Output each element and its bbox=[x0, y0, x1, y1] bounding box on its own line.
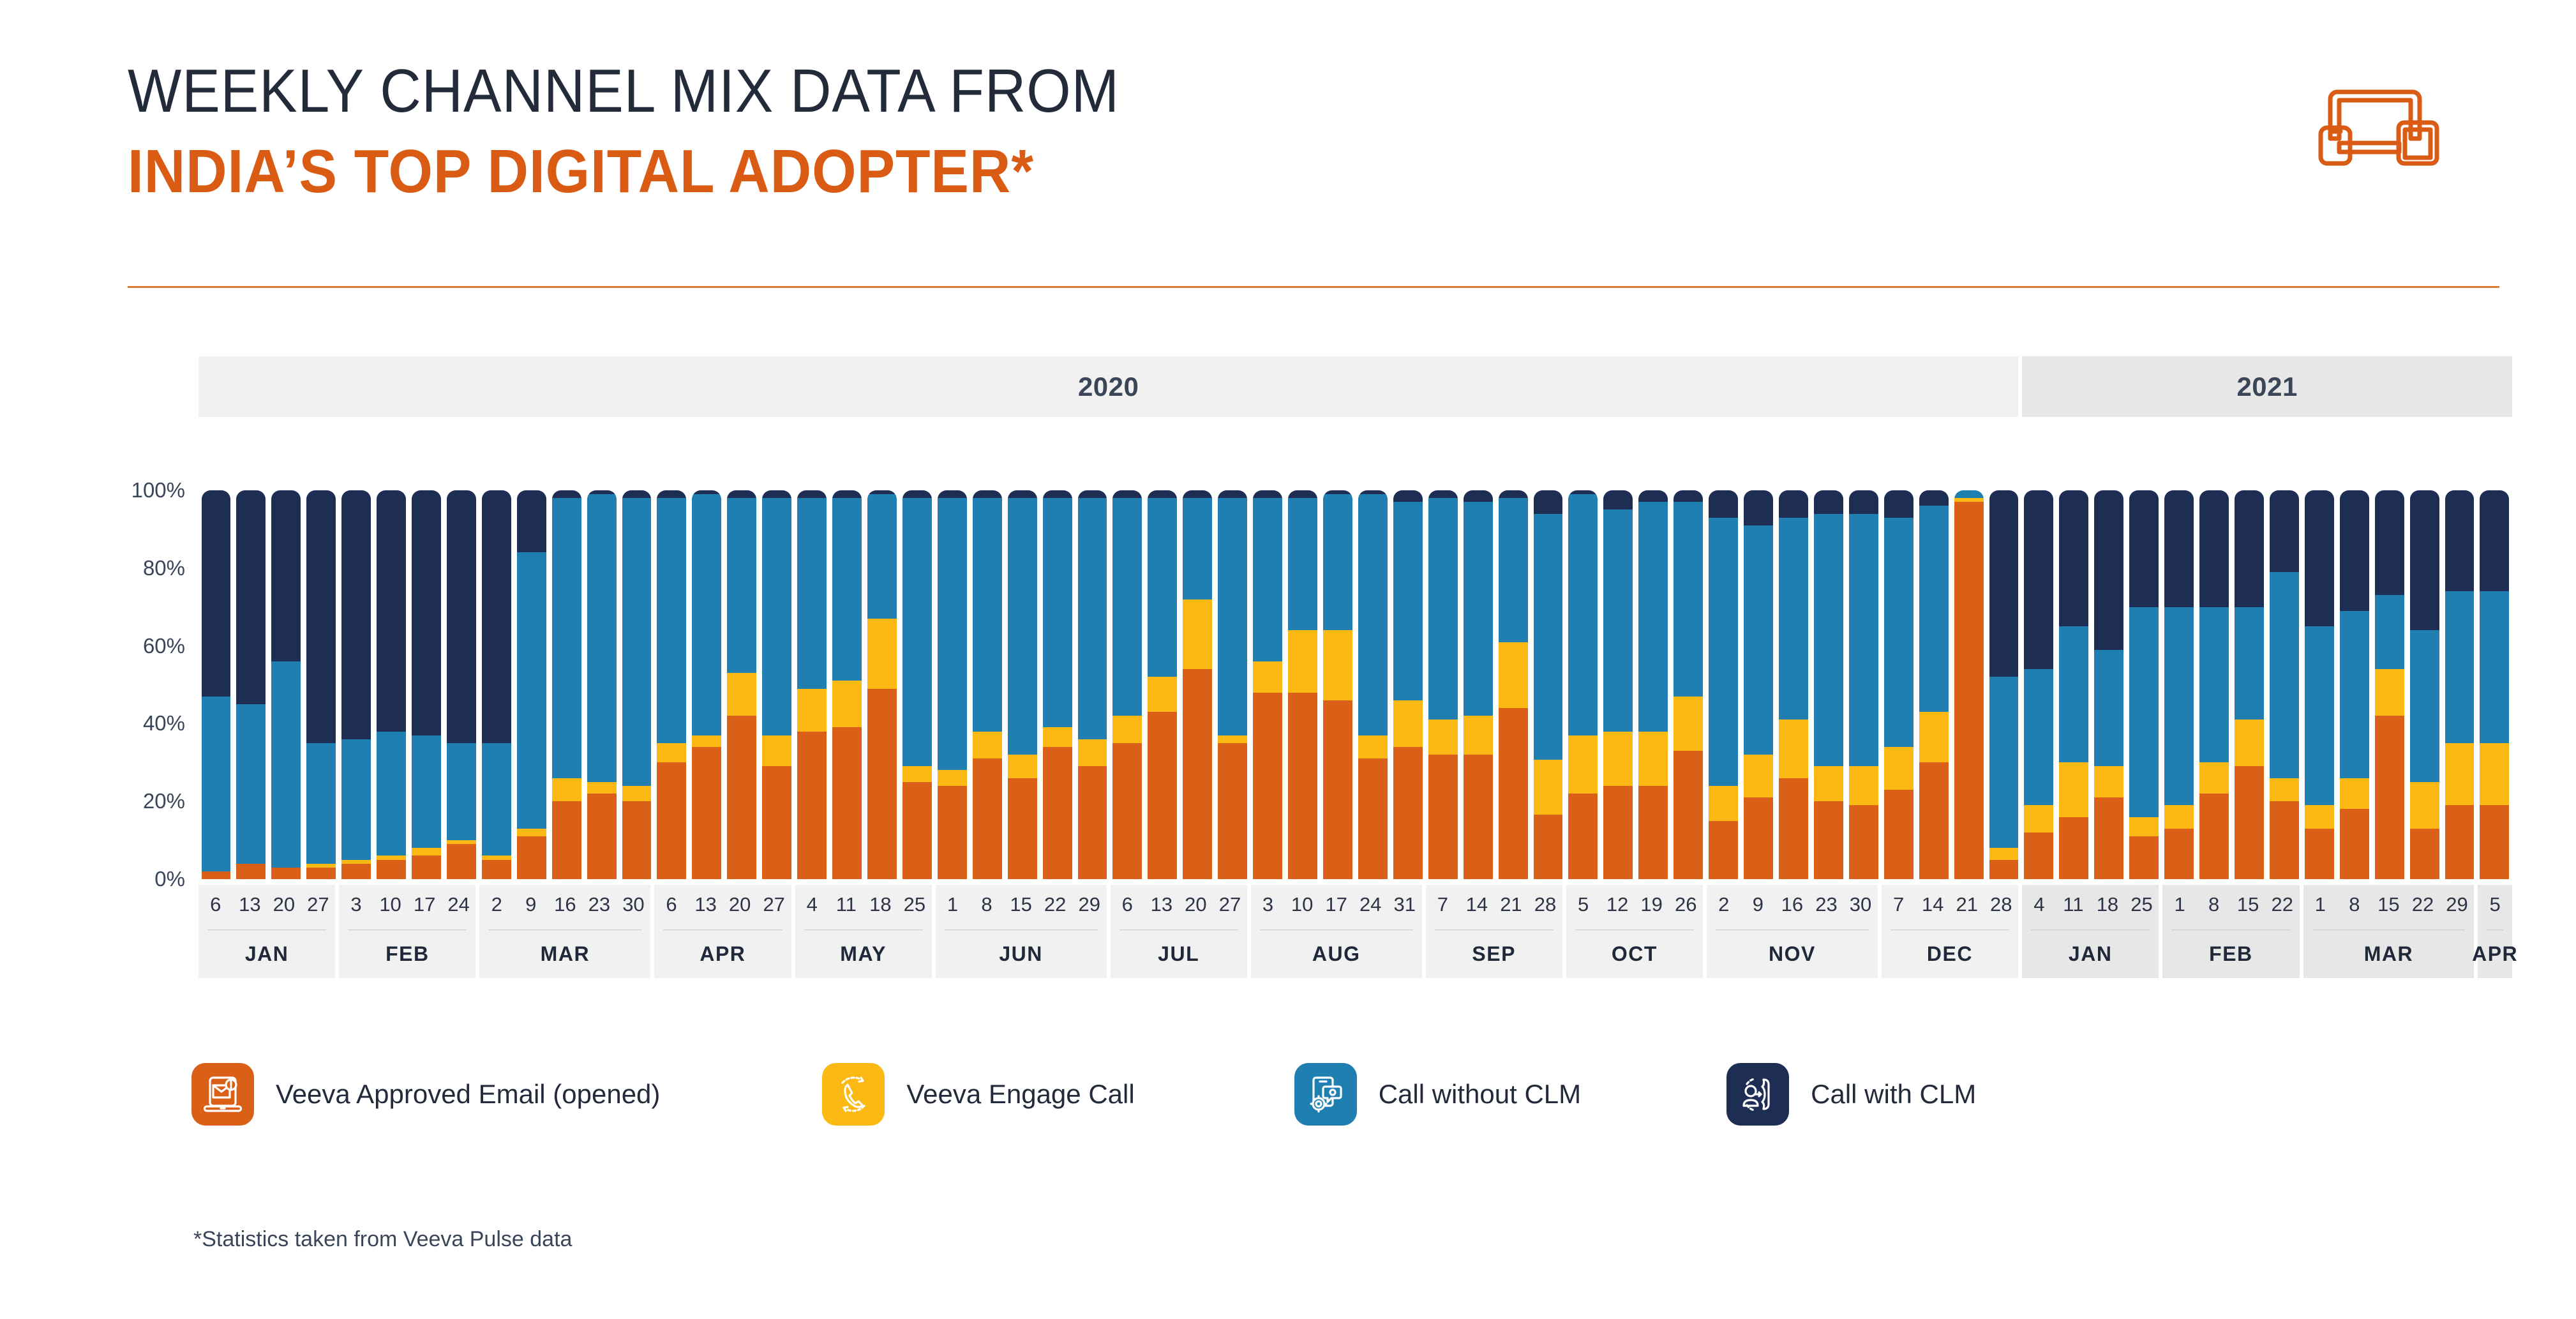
bar-segment-noclm bbox=[1919, 506, 1949, 712]
bar-segment-engage bbox=[1288, 630, 1317, 692]
stacked-bar[interactable] bbox=[2480, 490, 2509, 879]
bar-slot[interactable] bbox=[2372, 490, 2407, 879]
bar-segment-engage bbox=[1814, 766, 1843, 801]
stacked-bar[interactable] bbox=[1358, 490, 1388, 879]
email-opened-on-tablet-icon bbox=[191, 1063, 254, 1126]
bar-slot[interactable] bbox=[1180, 490, 1215, 879]
bar-slot[interactable] bbox=[1636, 490, 1671, 879]
bar-segment-clm bbox=[2235, 490, 2264, 607]
bar-segment-engage bbox=[1499, 642, 1528, 709]
stacked-bar[interactable] bbox=[1148, 490, 1177, 879]
bar-segment-email bbox=[2094, 797, 2123, 879]
stacked-bar[interactable] bbox=[973, 490, 1002, 879]
stacked-bar[interactable] bbox=[727, 490, 756, 879]
x-axis-week-labels: 7142128 bbox=[1882, 885, 2018, 924]
x-axis-week-labels: 7142128 bbox=[1426, 885, 1562, 924]
x-axis-week-label: 28 bbox=[1528, 885, 1562, 924]
bar-slot[interactable] bbox=[724, 490, 760, 879]
x-axis-week-label: 3 bbox=[339, 885, 373, 924]
bar-segment-noclm bbox=[1183, 498, 1212, 599]
x-axis-week-label: 22 bbox=[2406, 885, 2440, 924]
stacked-bar[interactable] bbox=[2164, 490, 2194, 879]
bar-segment-noclm bbox=[1499, 498, 1528, 642]
bar-segment-email bbox=[517, 836, 546, 879]
bar-segment-email bbox=[2164, 829, 2194, 879]
bar-segment-noclm bbox=[1674, 502, 1703, 697]
bar-segment-noclm bbox=[236, 704, 266, 864]
bar-segment-noclm bbox=[902, 498, 932, 766]
bar-slot[interactable] bbox=[1916, 490, 1951, 879]
bar-segment-email bbox=[1288, 693, 1317, 879]
bar-segment-clm bbox=[1393, 490, 1423, 502]
bar-segment-clm bbox=[2410, 490, 2439, 630]
bar-segment-noclm bbox=[1603, 509, 1633, 731]
stacked-bar[interactable] bbox=[1568, 490, 1598, 879]
bar-segment-noclm bbox=[447, 743, 476, 840]
bar-segment-noclm bbox=[2059, 626, 2088, 762]
bar-slot[interactable] bbox=[269, 490, 304, 879]
stacked-bar[interactable] bbox=[2410, 490, 2439, 879]
x-axis-week-labels: 310172431 bbox=[1251, 885, 1422, 924]
x-axis-week-label: 5 bbox=[2478, 885, 2512, 924]
bar-segment-noclm bbox=[1112, 498, 1142, 716]
bar-segment-email bbox=[2270, 801, 2299, 879]
bar-segment-engage bbox=[1323, 630, 1352, 700]
bar-segment-clm bbox=[1849, 490, 1878, 514]
x-axis-month-label: SEP bbox=[1426, 930, 1562, 978]
x-axis-week-labels: 5 bbox=[2478, 885, 2512, 924]
stacked-bar[interactable] bbox=[552, 490, 581, 879]
stacked-bar[interactable] bbox=[447, 490, 476, 879]
x-axis-month-block: 29162330NOV bbox=[1707, 885, 1878, 978]
bar-segment-engage bbox=[1989, 848, 2019, 859]
phone-refresh-cycle-icon bbox=[822, 1063, 885, 1126]
bar-segment-email bbox=[1358, 758, 1388, 879]
bar-segment-clm bbox=[938, 490, 967, 498]
stacked-bar[interactable] bbox=[902, 490, 932, 879]
x-axis-week-label: 25 bbox=[897, 885, 932, 924]
stacked-bar[interactable] bbox=[412, 490, 441, 879]
stacked-bar[interactable] bbox=[938, 490, 967, 879]
page-title: WEEKLY CHANNEL MIX DATA FROM INDIA’S TOP… bbox=[128, 61, 1194, 202]
bar-segment-engage bbox=[1568, 735, 1598, 794]
x-axis-month-block: 6132027JUL bbox=[1111, 885, 1247, 978]
x-axis-week-label: 15 bbox=[1004, 885, 1038, 924]
stacked-bar[interactable] bbox=[762, 490, 791, 879]
bar-segment-noclm bbox=[2024, 669, 2053, 805]
stacked-bar[interactable] bbox=[341, 490, 371, 879]
bar-segment-noclm bbox=[622, 498, 652, 786]
bar-slot[interactable] bbox=[374, 490, 409, 879]
bar-segment-email bbox=[1638, 786, 1668, 879]
stacked-bar[interactable] bbox=[867, 490, 897, 879]
bar-segment-clm bbox=[797, 490, 827, 498]
stacked-bar[interactable] bbox=[832, 490, 862, 879]
stacked-bar[interactable] bbox=[271, 490, 301, 879]
bar-slot[interactable] bbox=[689, 490, 724, 879]
stacked-bar[interactable] bbox=[482, 490, 511, 879]
x-axis-week-label: 19 bbox=[1635, 885, 1669, 924]
x-axis-month-label: JAN bbox=[198, 930, 335, 978]
bar-slot[interactable] bbox=[2197, 490, 2232, 879]
bar-slot[interactable] bbox=[1005, 490, 1040, 879]
x-axis: 6132027JAN3101724FEB29162330MAR6132027AP… bbox=[198, 885, 2512, 978]
bar-segment-engage bbox=[2480, 743, 2509, 805]
bar-segment-email bbox=[1464, 755, 1493, 879]
bar-segment-email bbox=[2305, 829, 2334, 879]
legend-item-clm[interactable]: Call with CLM bbox=[1726, 1063, 1976, 1126]
stacked-bar[interactable] bbox=[202, 490, 231, 879]
bar-segment-email bbox=[657, 762, 686, 879]
bar-slot[interactable] bbox=[899, 490, 934, 879]
stacked-bar[interactable] bbox=[2059, 490, 2088, 879]
bar-slot[interactable] bbox=[2056, 490, 2092, 879]
x-axis-week-label: 31 bbox=[1388, 885, 1422, 924]
bar-slot[interactable] bbox=[830, 490, 865, 879]
x-axis-week-labels: 4111825 bbox=[795, 885, 932, 924]
bar-segment-engage bbox=[2024, 805, 2053, 833]
bar-slot[interactable] bbox=[1075, 490, 1110, 879]
stacked-bar[interactable] bbox=[1849, 490, 1878, 879]
stacked-bar[interactable] bbox=[1884, 490, 1913, 879]
bar-segment-email bbox=[1008, 778, 1037, 879]
stacked-bar[interactable] bbox=[2270, 490, 2299, 879]
x-axis-week-label: 13 bbox=[233, 885, 267, 924]
bar-segment-noclm bbox=[973, 498, 1002, 731]
stacked-bar[interactable] bbox=[1183, 490, 1212, 879]
bar-slot[interactable] bbox=[1110, 490, 1145, 879]
stacked-bar[interactable] bbox=[622, 490, 652, 879]
bar-segment-email bbox=[2199, 794, 2229, 879]
bar-slot[interactable] bbox=[654, 490, 689, 879]
x-axis-month-label: NOV bbox=[1707, 930, 1878, 978]
stacked-bar[interactable] bbox=[1534, 490, 1563, 879]
stacked-bar[interactable] bbox=[1499, 490, 1528, 879]
bar-segment-engage bbox=[1534, 760, 1563, 814]
x-axis-week-label: 13 bbox=[689, 885, 723, 924]
legend-item-noclm[interactable]: Call without CLM bbox=[1294, 1063, 1581, 1126]
bar-slot[interactable] bbox=[2092, 490, 2127, 879]
bar-slot[interactable] bbox=[1285, 490, 1321, 879]
bar-segment-email bbox=[482, 860, 511, 879]
stacked-bar[interactable] bbox=[657, 490, 686, 879]
bar-segment-clm bbox=[306, 490, 336, 743]
bar-slot[interactable] bbox=[2162, 490, 2197, 879]
bar-slot[interactable] bbox=[1250, 490, 1285, 879]
bar-slot[interactable] bbox=[1986, 490, 2021, 879]
bar-slot[interactable] bbox=[1355, 490, 1390, 879]
bar-segment-engage bbox=[762, 735, 791, 767]
bar-segment-noclm bbox=[1323, 494, 1352, 630]
bar-slot[interactable] bbox=[795, 490, 830, 879]
bar-slot[interactable] bbox=[1706, 490, 1741, 879]
legend-item-engage[interactable]: Veeva Engage Call bbox=[822, 1063, 1134, 1126]
bar-segment-email bbox=[727, 716, 756, 879]
stacked-bar[interactable] bbox=[377, 490, 406, 879]
stacked-bar[interactable] bbox=[1112, 490, 1142, 879]
bar-slot[interactable] bbox=[1145, 490, 1180, 879]
y-axis-tick: 40% bbox=[102, 711, 185, 735]
bar-segment-noclm bbox=[1008, 498, 1037, 755]
bar-segment-clm bbox=[727, 490, 756, 498]
bar-segment-clm bbox=[412, 490, 441, 735]
x-axis-week-label: 6 bbox=[654, 885, 689, 924]
bar-segment-clm bbox=[2270, 490, 2299, 572]
bar-segment-clm bbox=[2024, 490, 2053, 669]
x-axis-week-labels: 29162330 bbox=[1707, 885, 1878, 924]
stacked-bar[interactable] bbox=[2375, 490, 2404, 879]
stacked-bar[interactable] bbox=[2235, 490, 2264, 879]
bar-slot[interactable] bbox=[479, 490, 514, 879]
stacked-bar[interactable] bbox=[1464, 490, 1493, 879]
chart-legend: Veeva Approved Email (opened)Veeva Engag… bbox=[191, 1063, 1976, 1126]
stacked-bar[interactable] bbox=[692, 490, 721, 879]
bar-segment-email bbox=[1849, 805, 1878, 879]
bar-slot[interactable] bbox=[2477, 490, 2512, 879]
bar-slot[interactable] bbox=[1425, 490, 1460, 879]
bar-segment-email bbox=[973, 758, 1002, 879]
x-axis-week-label: 1 bbox=[2162, 885, 2197, 924]
bar-slot[interactable] bbox=[198, 490, 234, 879]
bar-segment-clm bbox=[1814, 490, 1843, 514]
bar-slot[interactable] bbox=[2407, 490, 2442, 879]
bar-slot[interactable] bbox=[1811, 490, 1846, 879]
stacked-bar[interactable] bbox=[1428, 490, 1458, 879]
x-axis-week-label: 9 bbox=[1741, 885, 1776, 924]
stacked-bar[interactable] bbox=[517, 490, 546, 879]
bar-segment-noclm bbox=[1253, 498, 1282, 661]
x-axis-week-label: 24 bbox=[442, 885, 476, 924]
bar-segment-clm bbox=[902, 490, 932, 498]
legend-label: Call with CLM bbox=[1811, 1079, 1976, 1110]
x-axis-week-label: 26 bbox=[1668, 885, 1703, 924]
bar-slot[interactable] bbox=[1951, 490, 1986, 879]
bar-segment-email bbox=[1568, 794, 1598, 879]
bar-segment-email bbox=[1112, 743, 1142, 879]
x-axis-month-block: 4111825JAN bbox=[2022, 885, 2159, 978]
year-label-2020: 2020 bbox=[198, 356, 2018, 417]
bar-segment-email bbox=[2235, 766, 2264, 879]
stacked-bar[interactable] bbox=[1989, 490, 2019, 879]
bar-segment-email bbox=[1534, 815, 1563, 880]
x-axis-month-label: MAR bbox=[479, 930, 650, 978]
bar-slot[interactable] bbox=[2442, 490, 2477, 879]
bar-segment-clm bbox=[1744, 490, 1773, 525]
stacked-bar[interactable] bbox=[2340, 490, 2369, 879]
bar-slot[interactable] bbox=[2231, 490, 2266, 879]
stacked-bar[interactable] bbox=[1218, 490, 1247, 879]
stacked-bar[interactable] bbox=[1393, 490, 1423, 879]
stacked-bar[interactable] bbox=[1603, 490, 1633, 879]
bar-slot[interactable] bbox=[1671, 490, 1706, 879]
bar-slot[interactable] bbox=[1531, 490, 1566, 879]
legend-label: Veeva Engage Call bbox=[906, 1079, 1134, 1110]
bar-segment-noclm bbox=[867, 494, 897, 619]
bar-segment-email bbox=[1603, 786, 1633, 879]
bar-segment-clm bbox=[832, 490, 862, 498]
x-axis-week-labels: 6132027 bbox=[198, 885, 335, 924]
bar-slot[interactable] bbox=[865, 490, 900, 879]
y-axis-tick: 60% bbox=[102, 634, 185, 658]
bar-segment-noclm bbox=[2270, 572, 2299, 778]
bar-segment-clm bbox=[2094, 490, 2123, 650]
bar-segment-email bbox=[2024, 833, 2053, 879]
bar-segment-clm bbox=[1148, 490, 1177, 498]
x-axis-week-label: 16 bbox=[1775, 885, 1809, 924]
stacked-bar[interactable] bbox=[797, 490, 827, 879]
bar-segment-engage bbox=[1183, 599, 1212, 670]
x-axis-week-label: 20 bbox=[267, 885, 301, 924]
bar-segment-engage bbox=[867, 619, 897, 689]
stacked-bar[interactable] bbox=[1954, 490, 1984, 879]
bar-segment-engage bbox=[1674, 697, 1703, 751]
bar-segment-engage bbox=[1112, 716, 1142, 743]
bar-slot[interactable] bbox=[1321, 490, 1356, 879]
stacked-bar[interactable] bbox=[306, 490, 336, 879]
bar-segment-clm bbox=[1218, 490, 1247, 498]
bar-segment-engage bbox=[1148, 677, 1177, 712]
bar-slot[interactable] bbox=[1390, 490, 1425, 879]
bar-segment-noclm bbox=[341, 739, 371, 860]
bar-segment-email bbox=[692, 747, 721, 879]
bar-slot[interactable] bbox=[1495, 490, 1531, 879]
bar-slot[interactable] bbox=[1846, 490, 1881, 879]
stacked-bar[interactable] bbox=[2094, 490, 2123, 879]
bar-segment-email bbox=[867, 689, 897, 879]
bar-slot[interactable] bbox=[1215, 490, 1250, 879]
bar-slot[interactable] bbox=[514, 490, 549, 879]
bar-segment-email bbox=[447, 844, 476, 879]
stacked-bar[interactable] bbox=[1323, 490, 1352, 879]
bar-segment-email bbox=[1814, 801, 1843, 879]
stacked-bar[interactable] bbox=[2129, 490, 2159, 879]
stacked-bar[interactable] bbox=[1674, 490, 1703, 879]
bar-slot[interactable] bbox=[1741, 490, 1776, 879]
x-axis-week-label: 10 bbox=[373, 885, 408, 924]
bar-slot[interactable] bbox=[1460, 490, 1495, 879]
x-axis-month-block: 310172431AUG bbox=[1251, 885, 1422, 978]
bar-slot[interactable] bbox=[234, 490, 269, 879]
bar-slot[interactable] bbox=[970, 490, 1005, 879]
bar-segment-email bbox=[377, 860, 406, 879]
stacked-bar[interactable] bbox=[1008, 490, 1037, 879]
stacked-bar[interactable] bbox=[1744, 490, 1773, 879]
y-axis-tick: 100% bbox=[102, 478, 185, 502]
bar-segment-email bbox=[1674, 751, 1703, 879]
bar-slot[interactable] bbox=[2021, 490, 2056, 879]
stacked-bar[interactable] bbox=[1043, 490, 1072, 879]
bar-slot[interactable] bbox=[1040, 490, 1075, 879]
bar-segment-email bbox=[271, 868, 301, 879]
bar-slot[interactable] bbox=[2127, 490, 2162, 879]
stacked-bar[interactable] bbox=[2445, 490, 2475, 879]
bar-segment-clm bbox=[482, 490, 511, 743]
x-axis-month-block: 5121926OCT bbox=[1566, 885, 1703, 978]
bar-slot[interactable] bbox=[1776, 490, 1811, 879]
x-axis-month-block: 5APR bbox=[2478, 885, 2512, 978]
bar-slot[interactable] bbox=[1566, 490, 1601, 879]
x-axis-week-label: 4 bbox=[2022, 885, 2056, 924]
bar-slot[interactable] bbox=[584, 490, 619, 879]
bar-slot[interactable] bbox=[409, 490, 444, 879]
bar-segment-engage bbox=[2305, 805, 2334, 829]
bar-slot[interactable] bbox=[619, 490, 654, 879]
x-axis-week-label: 18 bbox=[2090, 885, 2125, 924]
bar-segment-email bbox=[587, 794, 617, 879]
stacked-bar[interactable] bbox=[1288, 490, 1317, 879]
bar-segment-noclm bbox=[306, 743, 336, 864]
bar-slot[interactable] bbox=[760, 490, 795, 879]
x-axis-month-block: 7142128DEC bbox=[1882, 885, 2018, 978]
bar-segment-email bbox=[412, 855, 441, 879]
bar-segment-engage bbox=[1218, 735, 1247, 743]
x-axis-week-label: 27 bbox=[757, 885, 791, 924]
bar-segment-noclm bbox=[2129, 607, 2159, 817]
stacked-bar[interactable] bbox=[1814, 490, 1843, 879]
bar-segment-clm bbox=[341, 490, 371, 739]
bar-segment-engage bbox=[2094, 766, 2123, 797]
bar-segment-engage bbox=[973, 732, 1002, 759]
bar-slot[interactable] bbox=[2266, 490, 2302, 879]
bar-segment-email bbox=[552, 801, 581, 879]
bar-segment-noclm bbox=[412, 735, 441, 848]
x-axis-week-label: 7 bbox=[1426, 885, 1460, 924]
bar-segment-email bbox=[2480, 805, 2509, 879]
bar-slot[interactable] bbox=[549, 490, 584, 879]
stacked-bar[interactable] bbox=[2305, 490, 2334, 879]
stacked-bar[interactable] bbox=[1919, 490, 1949, 879]
stacked-bar[interactable] bbox=[587, 490, 617, 879]
bar-slot[interactable] bbox=[1881, 490, 1916, 879]
stacked-bar[interactable] bbox=[1078, 490, 1107, 879]
bar-slot[interactable] bbox=[444, 490, 479, 879]
x-axis-month-label: APR bbox=[2478, 930, 2512, 978]
x-axis-month-label: MAY bbox=[795, 930, 932, 978]
stacked-bar[interactable] bbox=[1638, 490, 1668, 879]
bar-segment-noclm bbox=[2305, 626, 2334, 805]
stacked-bar[interactable] bbox=[1779, 490, 1808, 879]
x-axis-week-label: 18 bbox=[864, 885, 898, 924]
bar-segment-noclm bbox=[1464, 502, 1493, 716]
bar-segment-noclm bbox=[692, 494, 721, 735]
year-label-2021: 2021 bbox=[2022, 356, 2512, 417]
x-axis-week-label: 14 bbox=[1915, 885, 1950, 924]
bar-slot[interactable] bbox=[934, 490, 970, 879]
bar-segment-noclm bbox=[1148, 498, 1177, 677]
bar-segment-noclm bbox=[2445, 591, 2475, 743]
x-axis-week-label: 10 bbox=[1285, 885, 1319, 924]
bar-slot[interactable] bbox=[1601, 490, 1636, 879]
bar-slot[interactable] bbox=[2302, 490, 2337, 879]
x-axis-week-label: 15 bbox=[2231, 885, 2265, 924]
bar-slot[interactable] bbox=[2337, 490, 2372, 879]
bar-segment-engage bbox=[657, 743, 686, 762]
stacked-bar[interactable] bbox=[2199, 490, 2229, 879]
bar-segment-clm bbox=[1112, 490, 1142, 498]
bar-segment-clm bbox=[517, 490, 546, 552]
bar-slot[interactable] bbox=[339, 490, 374, 879]
bar-slot[interactable] bbox=[304, 490, 339, 879]
x-axis-week-label: 12 bbox=[1600, 885, 1635, 924]
stacked-bar[interactable] bbox=[1253, 490, 1282, 879]
stacked-bar[interactable] bbox=[2024, 490, 2053, 879]
legend-item-email[interactable]: Veeva Approved Email (opened) bbox=[191, 1063, 660, 1126]
bar-segment-noclm bbox=[1288, 498, 1317, 630]
stacked-bar[interactable] bbox=[236, 490, 266, 879]
bar-segment-noclm bbox=[482, 743, 511, 856]
stacked-bar[interactable] bbox=[1709, 490, 1738, 879]
bar-segment-clm bbox=[1603, 490, 1633, 509]
